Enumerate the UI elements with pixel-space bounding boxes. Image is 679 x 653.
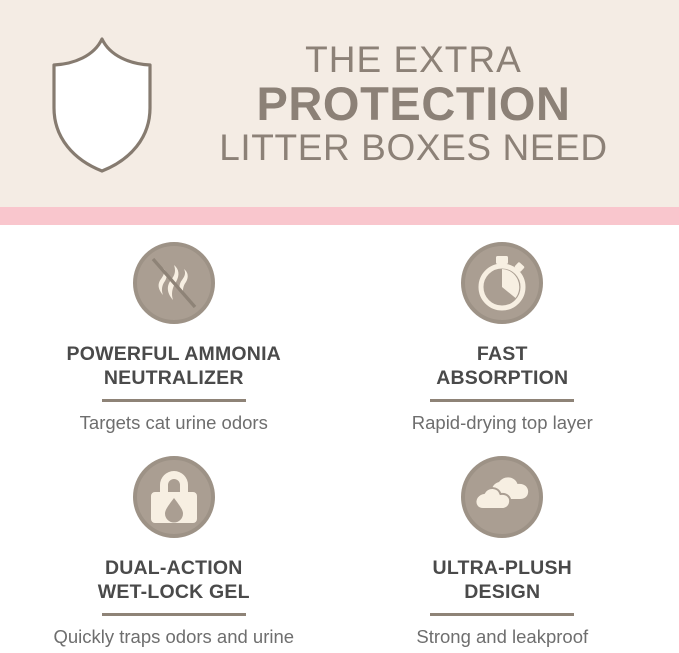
feature-description: Targets cat urine odors [80, 412, 268, 434]
feature-description: Quickly traps odors and urine [53, 626, 294, 648]
pink-divider-bar [0, 207, 679, 225]
stopwatch-icon [461, 242, 543, 324]
shield-icon [42, 34, 162, 176]
header-content: THE EXTRA PROTECTION LITTER BOXES NEED [0, 0, 679, 207]
no-odor-waves-icon [133, 242, 215, 324]
feature-card-ammonia-neutralizer: POWERFUL AMMONIA NEUTRALIZER Targets cat… [0, 225, 340, 439]
page-title-line-2: PROTECTION [162, 79, 665, 129]
feature-rule [102, 613, 246, 616]
feature-card-ultra-plush-design: ULTRA-PLUSH DESIGN Strong and leakproof [340, 439, 679, 653]
header-title-block: THE EXTRA PROTECTION LITTER BOXES NEED [162, 41, 679, 167]
header-banner: THE EXTRA PROTECTION LITTER BOXES NEED [0, 0, 679, 207]
feature-card-wet-lock-gel: DUAL-ACTION WET-LOCK GEL Quickly traps o… [0, 439, 340, 653]
page-title-line-3: LITTER BOXES NEED [162, 129, 665, 167]
feature-rule [102, 399, 246, 402]
feature-title: DUAL-ACTION WET-LOCK GEL [98, 556, 250, 604]
clouds-icon [461, 456, 543, 538]
feature-title: ULTRA-PLUSH DESIGN [433, 556, 572, 604]
feature-title: FAST ABSORPTION [436, 342, 568, 390]
feature-grid: POWERFUL AMMONIA NEUTRALIZER Targets cat… [0, 225, 679, 653]
feature-description: Rapid-drying top layer [412, 412, 593, 434]
feature-rule [430, 613, 574, 616]
padlock-droplet-icon [133, 456, 215, 538]
page-title-line-1: THE EXTRA [162, 41, 665, 79]
feature-rule [430, 399, 574, 402]
feature-description: Strong and leakproof [416, 626, 588, 648]
feature-title: POWERFUL AMMONIA NEUTRALIZER [67, 342, 281, 390]
feature-card-fast-absorption: FAST ABSORPTION Rapid-drying top layer [340, 225, 679, 439]
